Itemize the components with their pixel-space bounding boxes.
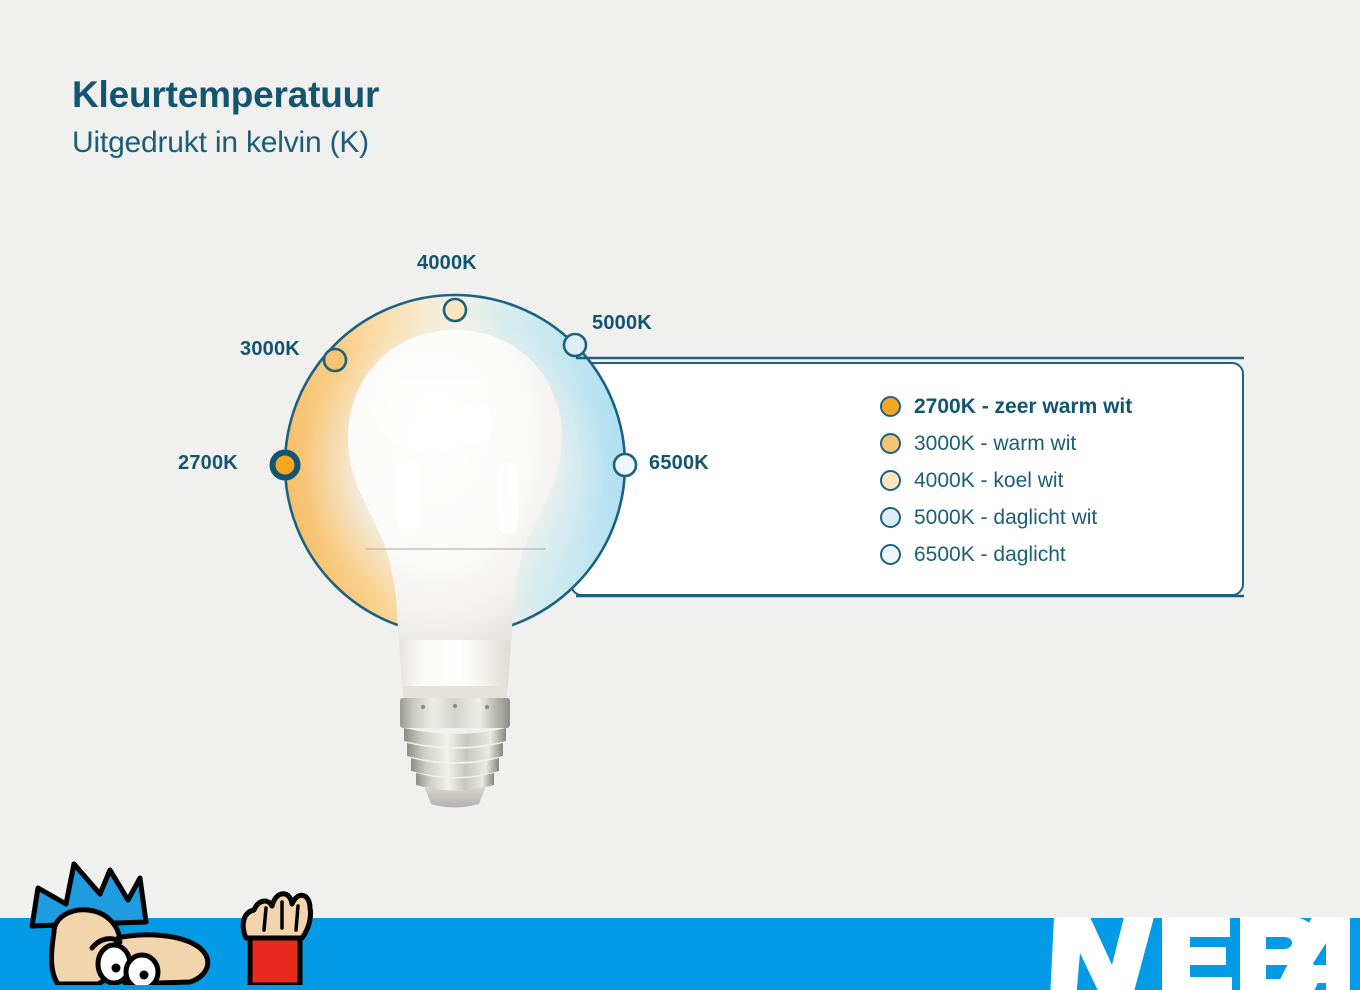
page-subtitle: Uitgedrukt in kelvin (K) — [72, 125, 379, 161]
legend-label-3000k: 3000K - warm wit — [914, 432, 1076, 456]
legend-item-2700k[interactable]: 2700K - zeer warm wit — [880, 391, 1132, 422]
legend-label-6500k: 6500K - daglicht — [914, 543, 1066, 567]
infographic-canvas: Kleurtemperatuur Uitgedrukt in kelvin (K… — [0, 0, 1360, 990]
legend-swatch-6500k — [880, 544, 901, 565]
heading-block: Kleurtemperatuur Uitgedrukt in kelvin (K… — [72, 74, 379, 161]
legend-swatch-2700k — [880, 396, 901, 417]
legend-label-4000k: 4000K - koel wit — [914, 469, 1063, 493]
ring-label-5000k: 5000K — [592, 312, 652, 335]
footer-banner — [0, 918, 1360, 990]
marker-3000k — [324, 349, 346, 371]
legend-item-3000k[interactable]: 3000K - warm wit — [880, 428, 1132, 459]
legend-item-5000k[interactable]: 5000K - daglicht wit — [880, 502, 1132, 533]
led-bulb-illustration — [348, 330, 562, 808]
legend-label-2700k: 2700K - zeer warm wit — [914, 395, 1132, 419]
marker-4000k — [444, 299, 466, 321]
ring-label-4000k: 4000K — [417, 252, 477, 275]
legend-panel: 2700K - zeer warm wit 3000K - warm wit 4… — [570, 362, 1244, 596]
marker-5000k — [564, 334, 586, 356]
legend-item-6500k[interactable]: 6500K - daglicht — [880, 539, 1132, 570]
legend-swatch-5000k — [880, 507, 901, 528]
legend-swatch-3000k — [880, 433, 901, 454]
ring-label-2700k: 2700K — [178, 452, 238, 475]
legend-item-4000k[interactable]: 4000K - koel wit — [880, 465, 1132, 496]
legend-list: 2700K - zeer warm wit 3000K - warm wit 4… — [880, 391, 1132, 570]
ring-label-6500k: 6500K — [649, 452, 709, 475]
legend-swatch-4000k — [880, 470, 901, 491]
page-title: Kleurtemperatuur — [72, 74, 379, 117]
weba-mascot — [14, 860, 344, 990]
weba-logo — [1050, 913, 1350, 990]
marker-2700k-selected — [273, 453, 298, 478]
ring-label-3000k: 3000K — [240, 338, 300, 361]
legend-label-5000k: 5000K - daglicht wit — [914, 506, 1097, 530]
e27-screw-threads — [404, 728, 506, 791]
